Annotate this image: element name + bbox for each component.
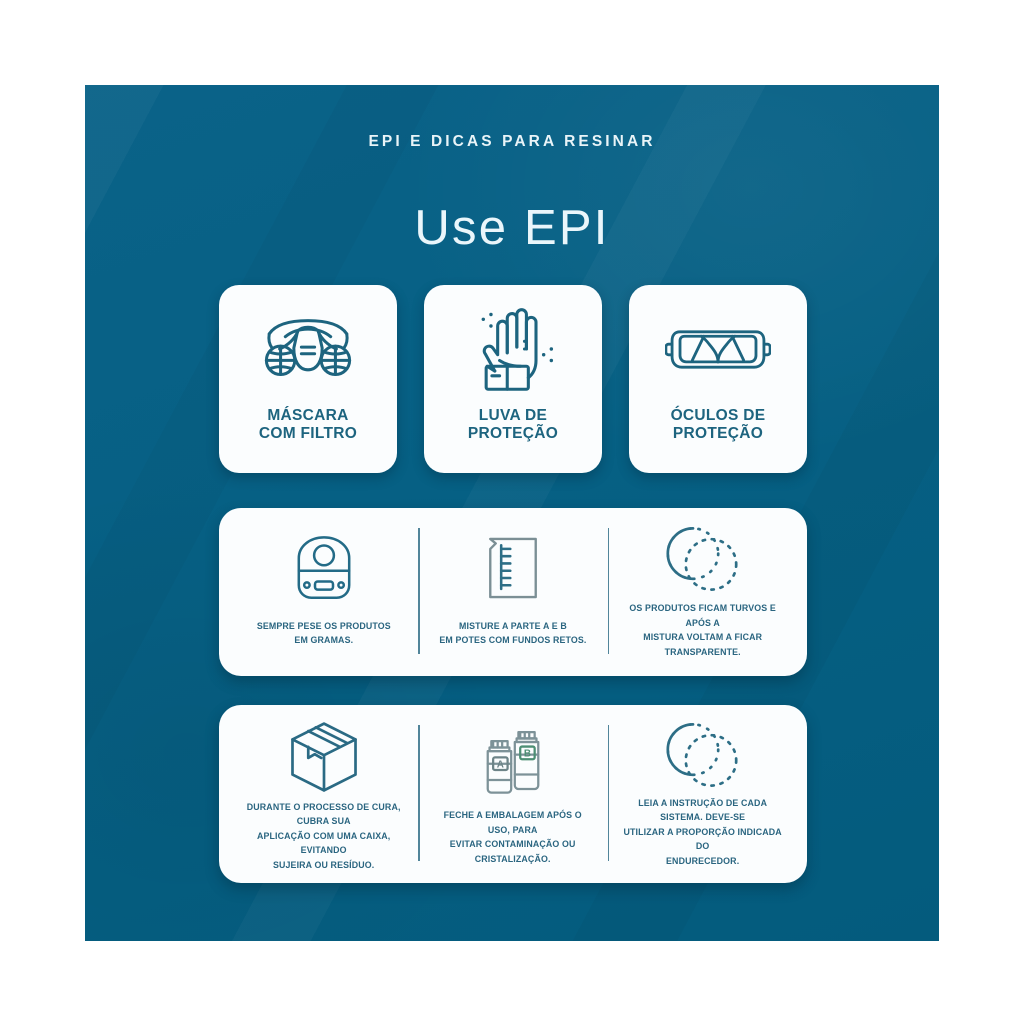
tip-mix-parts-ab[interactable]: MISTURE A PARTE A E B EM POTES COM FUNDO… <box>418 522 607 660</box>
graduated-beaker-icon <box>483 522 543 614</box>
epi-card-mascara[interactable]: MÁSCARA COM FILTRO <box>219 285 397 473</box>
epi-card-label: LUVA DE PROTEÇÃO <box>468 407 558 444</box>
tip-text: FECHE A EMBALAGEM APÓS O USO, PARA EVITA… <box>433 809 592 867</box>
tip-text: SEMPRE PESE OS PRODUTOS EM GRAMAS. <box>257 620 391 649</box>
teal-background-panel: EPI E DICAS PARA RESINAR Use EPI <box>85 85 939 941</box>
epi-card-label: ÓCULOS DE PROTEÇÃO <box>671 407 766 444</box>
tip-weigh-products[interactable]: SEMPRE PESE OS PRODUTOS EM GRAMAS. <box>229 522 418 660</box>
tip-text: DURANTE O PROCESSO DE CURA, CUBRA SUA AP… <box>244 801 403 873</box>
page-title: Use EPI <box>85 200 939 256</box>
curing-storage-tips-row: DURANTE O PROCESSO DE CURA, CUBRA SUA AP… <box>219 705 807 883</box>
tip-close-packaging[interactable]: B A FECHE A EMBALAGEM APÓS O USO, PARA E… <box>418 719 607 867</box>
kitchen-scale-icon <box>287 522 361 614</box>
respirator-mask-icon <box>254 301 362 397</box>
tip-text: MISTURE A PARTE A E B EM POTES COM FUNDO… <box>439 620 586 649</box>
measuring-tips-row: SEMPRE PESE OS PRODUTOS EM GRAMAS. MISTU… <box>219 508 807 676</box>
tip-cloudy-then-clear[interactable]: OS PRODUTOS FICAM TURVOS E APÓS A MISTUR… <box>608 522 797 660</box>
epi-card-luva[interactable]: LUVA DE PROTEÇÃO <box>424 285 602 473</box>
overlapping-circles-icon <box>663 522 741 596</box>
kicker-heading: EPI E DICAS PARA RESINAR <box>85 133 939 151</box>
cardboard-box-icon <box>285 719 363 795</box>
overlapping-circles-icon <box>663 719 741 791</box>
tip-text: LEIA A INSTRUÇÃO DE CADA SISTEMA. DEVE-S… <box>623 797 782 869</box>
epi-card-oculos[interactable]: ÓCULOS DE PROTEÇÃO <box>629 285 807 473</box>
two-bottles-ab-icon: B A <box>475 719 551 803</box>
epi-card-row: MÁSCARA COM FILTRO <box>219 285 807 473</box>
safety-goggles-icon <box>664 301 772 397</box>
bottle-a-label: A <box>497 760 504 771</box>
epi-card-label: MÁSCARA COM FILTRO <box>259 407 357 444</box>
poster-canvas: EPI E DICAS PARA RESINAR Use EPI <box>0 0 1024 1024</box>
bottle-b-label: B <box>524 749 531 760</box>
protective-glove-icon <box>459 301 567 397</box>
tip-text: OS PRODUTOS FICAM TURVOS E APÓS A MISTUR… <box>623 602 782 660</box>
tip-cover-during-cure[interactable]: DURANTE O PROCESSO DE CURA, CUBRA SUA AP… <box>229 719 418 867</box>
tip-read-instructions[interactable]: LEIA A INSTRUÇÃO DE CADA SISTEMA. DEVE-S… <box>608 719 797 867</box>
